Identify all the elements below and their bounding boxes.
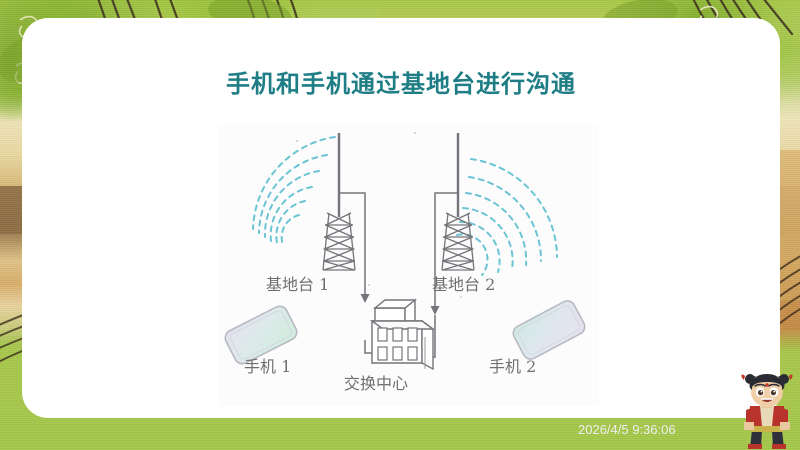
page-title: 手机和手机通过基地台进行沟通 (22, 64, 780, 99)
label-switching-center: 交换中心 (344, 370, 408, 394)
mascot-character (736, 372, 798, 450)
switching-center-building (372, 300, 433, 369)
content-card: 手机和手机通过基地台进行沟通 (22, 18, 780, 418)
nezha-character-icon (736, 372, 798, 450)
tower-2 (442, 133, 474, 270)
diagram-image: 基地台 1 基地台 2 手机 1 手机 2 交换中心 (219, 125, 599, 406)
signal-waves-left (253, 137, 335, 245)
label-phone-1: 手机 1 (244, 353, 291, 377)
label-base-station-1: 基地台 1 (266, 271, 329, 295)
label-base-station-2: 基地台 2 (432, 271, 495, 295)
signal-waves-right (457, 159, 557, 275)
link-line-1 (339, 193, 374, 353)
slide-canvas: 手机和手机通过基地台进行沟通 (0, 0, 800, 450)
label-phone-2: 手机 2 (489, 353, 536, 377)
tower-1 (323, 133, 355, 270)
timestamp: 2026/4/5 9:36:06 (578, 422, 676, 437)
